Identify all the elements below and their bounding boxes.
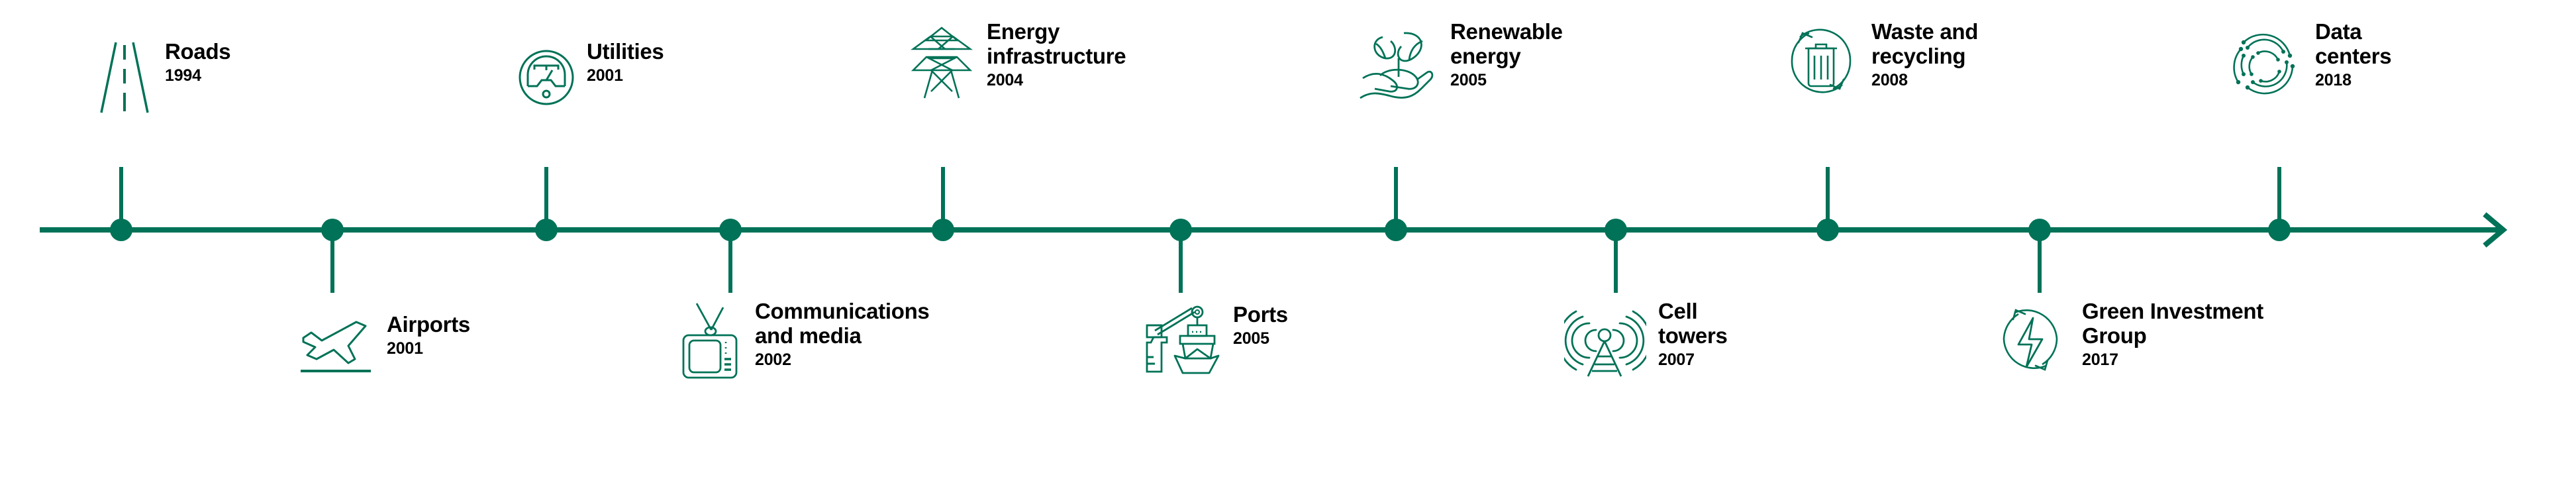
timeline-item-cell-towers[interactable]: Cell towers 2007 (1564, 298, 1728, 383)
timeline-item-label: Renewable energy (1450, 19, 1563, 69)
timeline-node-stem (2038, 230, 2042, 293)
timeline-item-label: Roads (165, 39, 230, 64)
timeline-item-text: Data centers 2018 (2315, 19, 2391, 90)
television-icon (677, 298, 743, 383)
trash-recycle-icon (1781, 19, 1859, 103)
timeline-item-text: Green Investment Group 2017 (2082, 298, 2263, 370)
timeline-item-label: Green Investment Group (2082, 299, 2263, 348)
timeline-item-data-centers[interactable]: Data centers 2018 (2224, 19, 2391, 103)
power-pylon-icon (909, 19, 975, 103)
timeline-node-stem (330, 230, 334, 293)
timeline-item-year: 2008 (1871, 71, 1978, 90)
timeline-item-label: Communications and media (755, 299, 930, 348)
timeline-item-text: Airports 2001 (387, 311, 470, 358)
airplane-icon (293, 311, 375, 378)
timeline-item-label: Data centers (2315, 19, 2391, 69)
timeline-item-year: 2007 (1658, 350, 1728, 370)
timeline-item-waste-and-recycling[interactable]: Waste and recycling 2008 (1781, 19, 1978, 103)
timeline-item-text: Ports 2005 (1233, 301, 1288, 348)
timeline-item-ports[interactable]: Ports 2005 (1139, 301, 1288, 378)
timeline-item-year: 2002 (755, 350, 930, 370)
road-icon (96, 38, 153, 117)
timeline-node-stem (2277, 167, 2281, 230)
timeline-item-year: 2001 (587, 66, 664, 85)
timeline-item-green-investment-group[interactable]: Green Investment Group 2017 (1992, 298, 2263, 383)
timeline-arrow-icon (2450, 211, 2510, 249)
timeline-item-energy-infrastructure[interactable]: Energy infrastructure 2004 (909, 19, 1126, 103)
timeline-item-renewable-energy[interactable]: Renewable energy 2005 (1356, 19, 1563, 103)
timeline-item-text: Communications and media 2002 (755, 298, 930, 370)
timeline-item-label: Ports (1233, 302, 1288, 327)
timeline-item-utilities[interactable]: Utilities 2001 (518, 38, 664, 117)
timeline-item-year: 2004 (987, 71, 1126, 90)
timeline-node-stem (1614, 230, 1618, 293)
timeline-item-label: Utilities (587, 39, 664, 64)
timeline-item-year: 2001 (387, 339, 470, 358)
timeline-item-year: 1994 (165, 66, 230, 85)
timeline-item-text: Cell towers 2007 (1658, 298, 1728, 370)
timeline-item-text: Waste and recycling 2008 (1871, 19, 1978, 90)
timeline-item-text: Renewable energy 2005 (1450, 19, 1563, 90)
hand-sprout-icon (1356, 19, 1438, 103)
timeline-item-year: 2018 (2315, 71, 2391, 90)
timeline-item-label: Waste and recycling (1871, 19, 1978, 69)
timeline-item-year: 2005 (1450, 71, 1563, 90)
bolt-recycle-icon (1992, 298, 2070, 383)
timeline-item-text: Utilities 2001 (587, 38, 664, 85)
timeline-node-stem (941, 167, 945, 230)
concentric-circuit-icon (2224, 19, 2303, 103)
port-crane-ship-icon (1139, 301, 1221, 378)
timeline-node-stem (544, 167, 548, 230)
timeline-node-stem (1394, 167, 1398, 230)
timeline-item-text: Energy infrastructure 2004 (987, 19, 1126, 90)
timeline-node-stem (1826, 167, 1830, 230)
timeline-item-airports[interactable]: Airports 2001 (293, 311, 470, 378)
gauge-meter-icon (518, 38, 575, 117)
timeline-item-text: Roads 1994 (165, 38, 230, 85)
timeline-node-stem (1179, 230, 1183, 293)
timeline-item-communications-and-media[interactable]: Communications and media 2002 (677, 298, 930, 383)
timeline-item-roads[interactable]: Roads 1994 (96, 38, 230, 117)
timeline-node-stem (728, 230, 732, 293)
timeline-infographic: Roads 1994 Utilities 2001 (0, 0, 2576, 477)
timeline-item-year: 2017 (2082, 350, 2263, 370)
timeline-item-year: 2005 (1233, 329, 1288, 348)
timeline-item-label: Airports (387, 312, 470, 337)
timeline-node-stem (119, 167, 123, 230)
timeline-item-label: Cell towers (1658, 299, 1728, 348)
timeline-axis-line (40, 227, 2490, 233)
radio-tower-icon (1564, 298, 1646, 383)
timeline-item-label: Energy infrastructure (987, 19, 1126, 69)
